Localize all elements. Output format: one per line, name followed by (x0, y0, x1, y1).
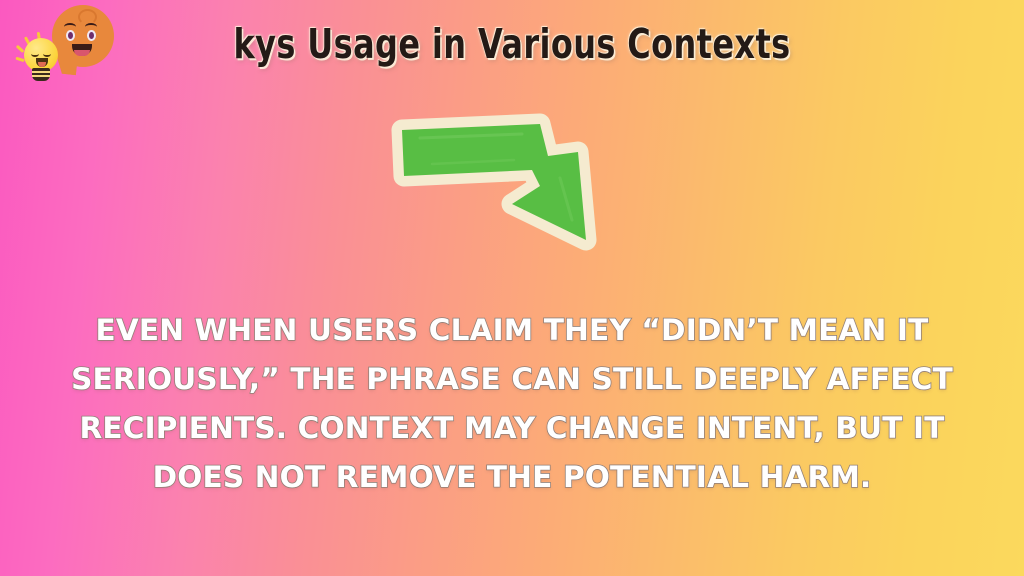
bent-down-right-arrow-icon (372, 108, 612, 268)
face-eye-right-icon (87, 30, 96, 41)
body-paragraph: EVEN WHEN USERS CLAIM THEY “DIDN’T MEAN … (18, 306, 1006, 502)
slide-canvas: kys Usage in Various Contexts EVEN WHEN … (0, 0, 1024, 576)
slide-title: kys Usage in Various Contexts (113, 20, 912, 68)
light-bulb-face-icon (20, 38, 62, 82)
body-line: DOES NOT REMOVE THE POTENTIAL HARM. (18, 453, 1006, 502)
body-line: SERIOUSLY,” THE PHRASE CAN STILL DEEPLY … (18, 355, 1006, 404)
bulb-eye-left-icon (31, 51, 39, 57)
body-line: EVEN WHEN USERS CLAIM THEY “DIDN’T MEAN … (18, 306, 1006, 355)
face-eye-left-icon (66, 30, 75, 41)
bulb-eye-right-icon (43, 51, 51, 57)
bulb-base-icon (32, 68, 50, 81)
bulb-ray-icon (16, 45, 24, 53)
body-line: RECIPIENTS. CONTEXT MAY CHANGE INTENT, B… (18, 404, 1006, 453)
emoji-cluster (6, 2, 124, 98)
